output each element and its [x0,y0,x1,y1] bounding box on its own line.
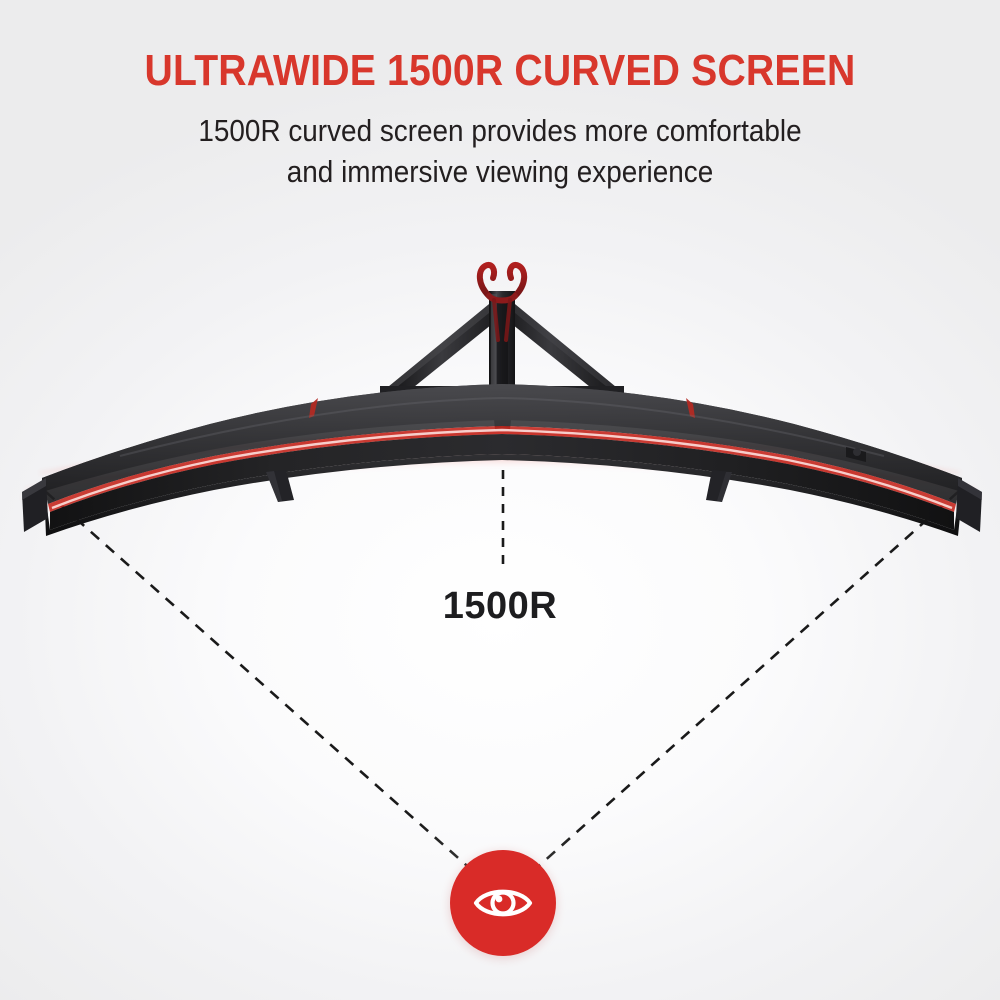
header-block: ULTRAWIDE 1500R CURVED SCREEN 1500R curv… [0,0,1000,193]
monitor-feet [266,470,732,502]
guide-line-left [46,492,474,872]
curvature-radius-label: 1500R [0,585,1000,628]
page-title: ULTRAWIDE 1500R CURVED SCREEN [55,0,945,94]
subtitle-line-1: 1500R curved screen provides more comfor… [50,110,950,151]
viewing-angle-guide-lines [46,470,958,872]
page-subtitle: 1500R curved screen provides more comfor… [50,94,950,192]
curved-monitor-panel [22,384,982,536]
guide-line-right [532,492,958,872]
product-feature-slide: ULTRAWIDE 1500R CURVED SCREEN 1500R curv… [0,0,1000,1000]
eye-icon [472,882,534,924]
subtitle-line-2: and immersive viewing experience [50,151,950,192]
viewer-eye-badge [450,850,556,956]
